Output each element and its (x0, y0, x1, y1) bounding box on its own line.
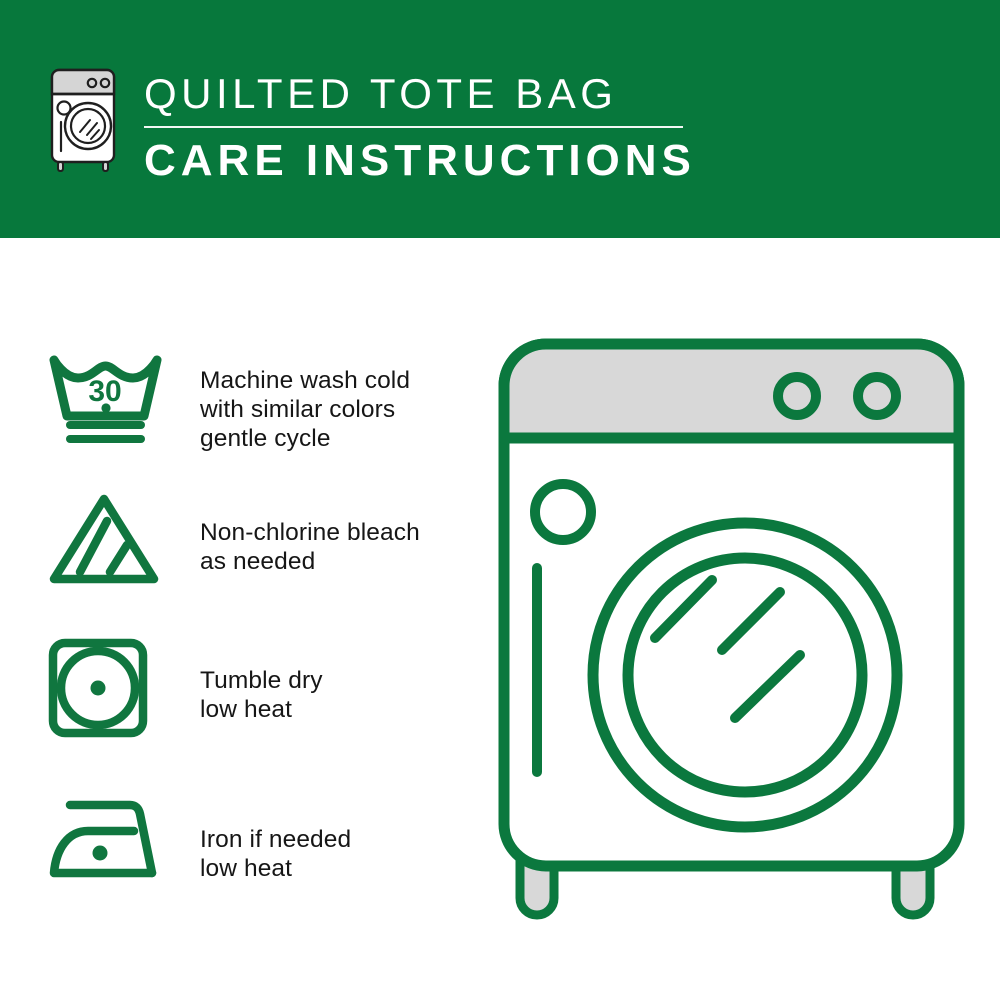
wash-temperature-label: 30 (88, 375, 121, 408)
washing-machine-illustration (490, 330, 980, 940)
iron-icon (48, 797, 166, 881)
header-title-block: QUILTED TOTE BAG CARE INSTRUCTIONS (144, 68, 804, 188)
care-item-text: Tumble dry low heat (200, 666, 323, 724)
care-instructions-page: QUILTED TOTE BAG CARE INSTRUCTIONS 30 (0, 0, 1000, 1000)
header-banner: QUILTED TOTE BAG CARE INSTRUCTIONS (0, 0, 1000, 238)
wash-tub-icon: 30 (48, 348, 163, 446)
tumble-dry-icon (48, 638, 148, 738)
care-item-text: Machine wash cold with similar colors ge… (200, 366, 410, 453)
page-title-primary: QUILTED TOTE BAG (144, 68, 804, 120)
title-divider (144, 126, 683, 128)
care-item-text: Iron if needed low heat (200, 825, 351, 883)
page-title-secondary: CARE INSTRUCTIONS (144, 134, 804, 188)
bleach-triangle-icon (48, 493, 160, 585)
care-instruction-list: 30 Machine wash cold with similar colors… (0, 238, 490, 1000)
care-item-text: Non-chlorine bleach as needed (200, 518, 420, 576)
washing-machine-icon (44, 66, 130, 174)
